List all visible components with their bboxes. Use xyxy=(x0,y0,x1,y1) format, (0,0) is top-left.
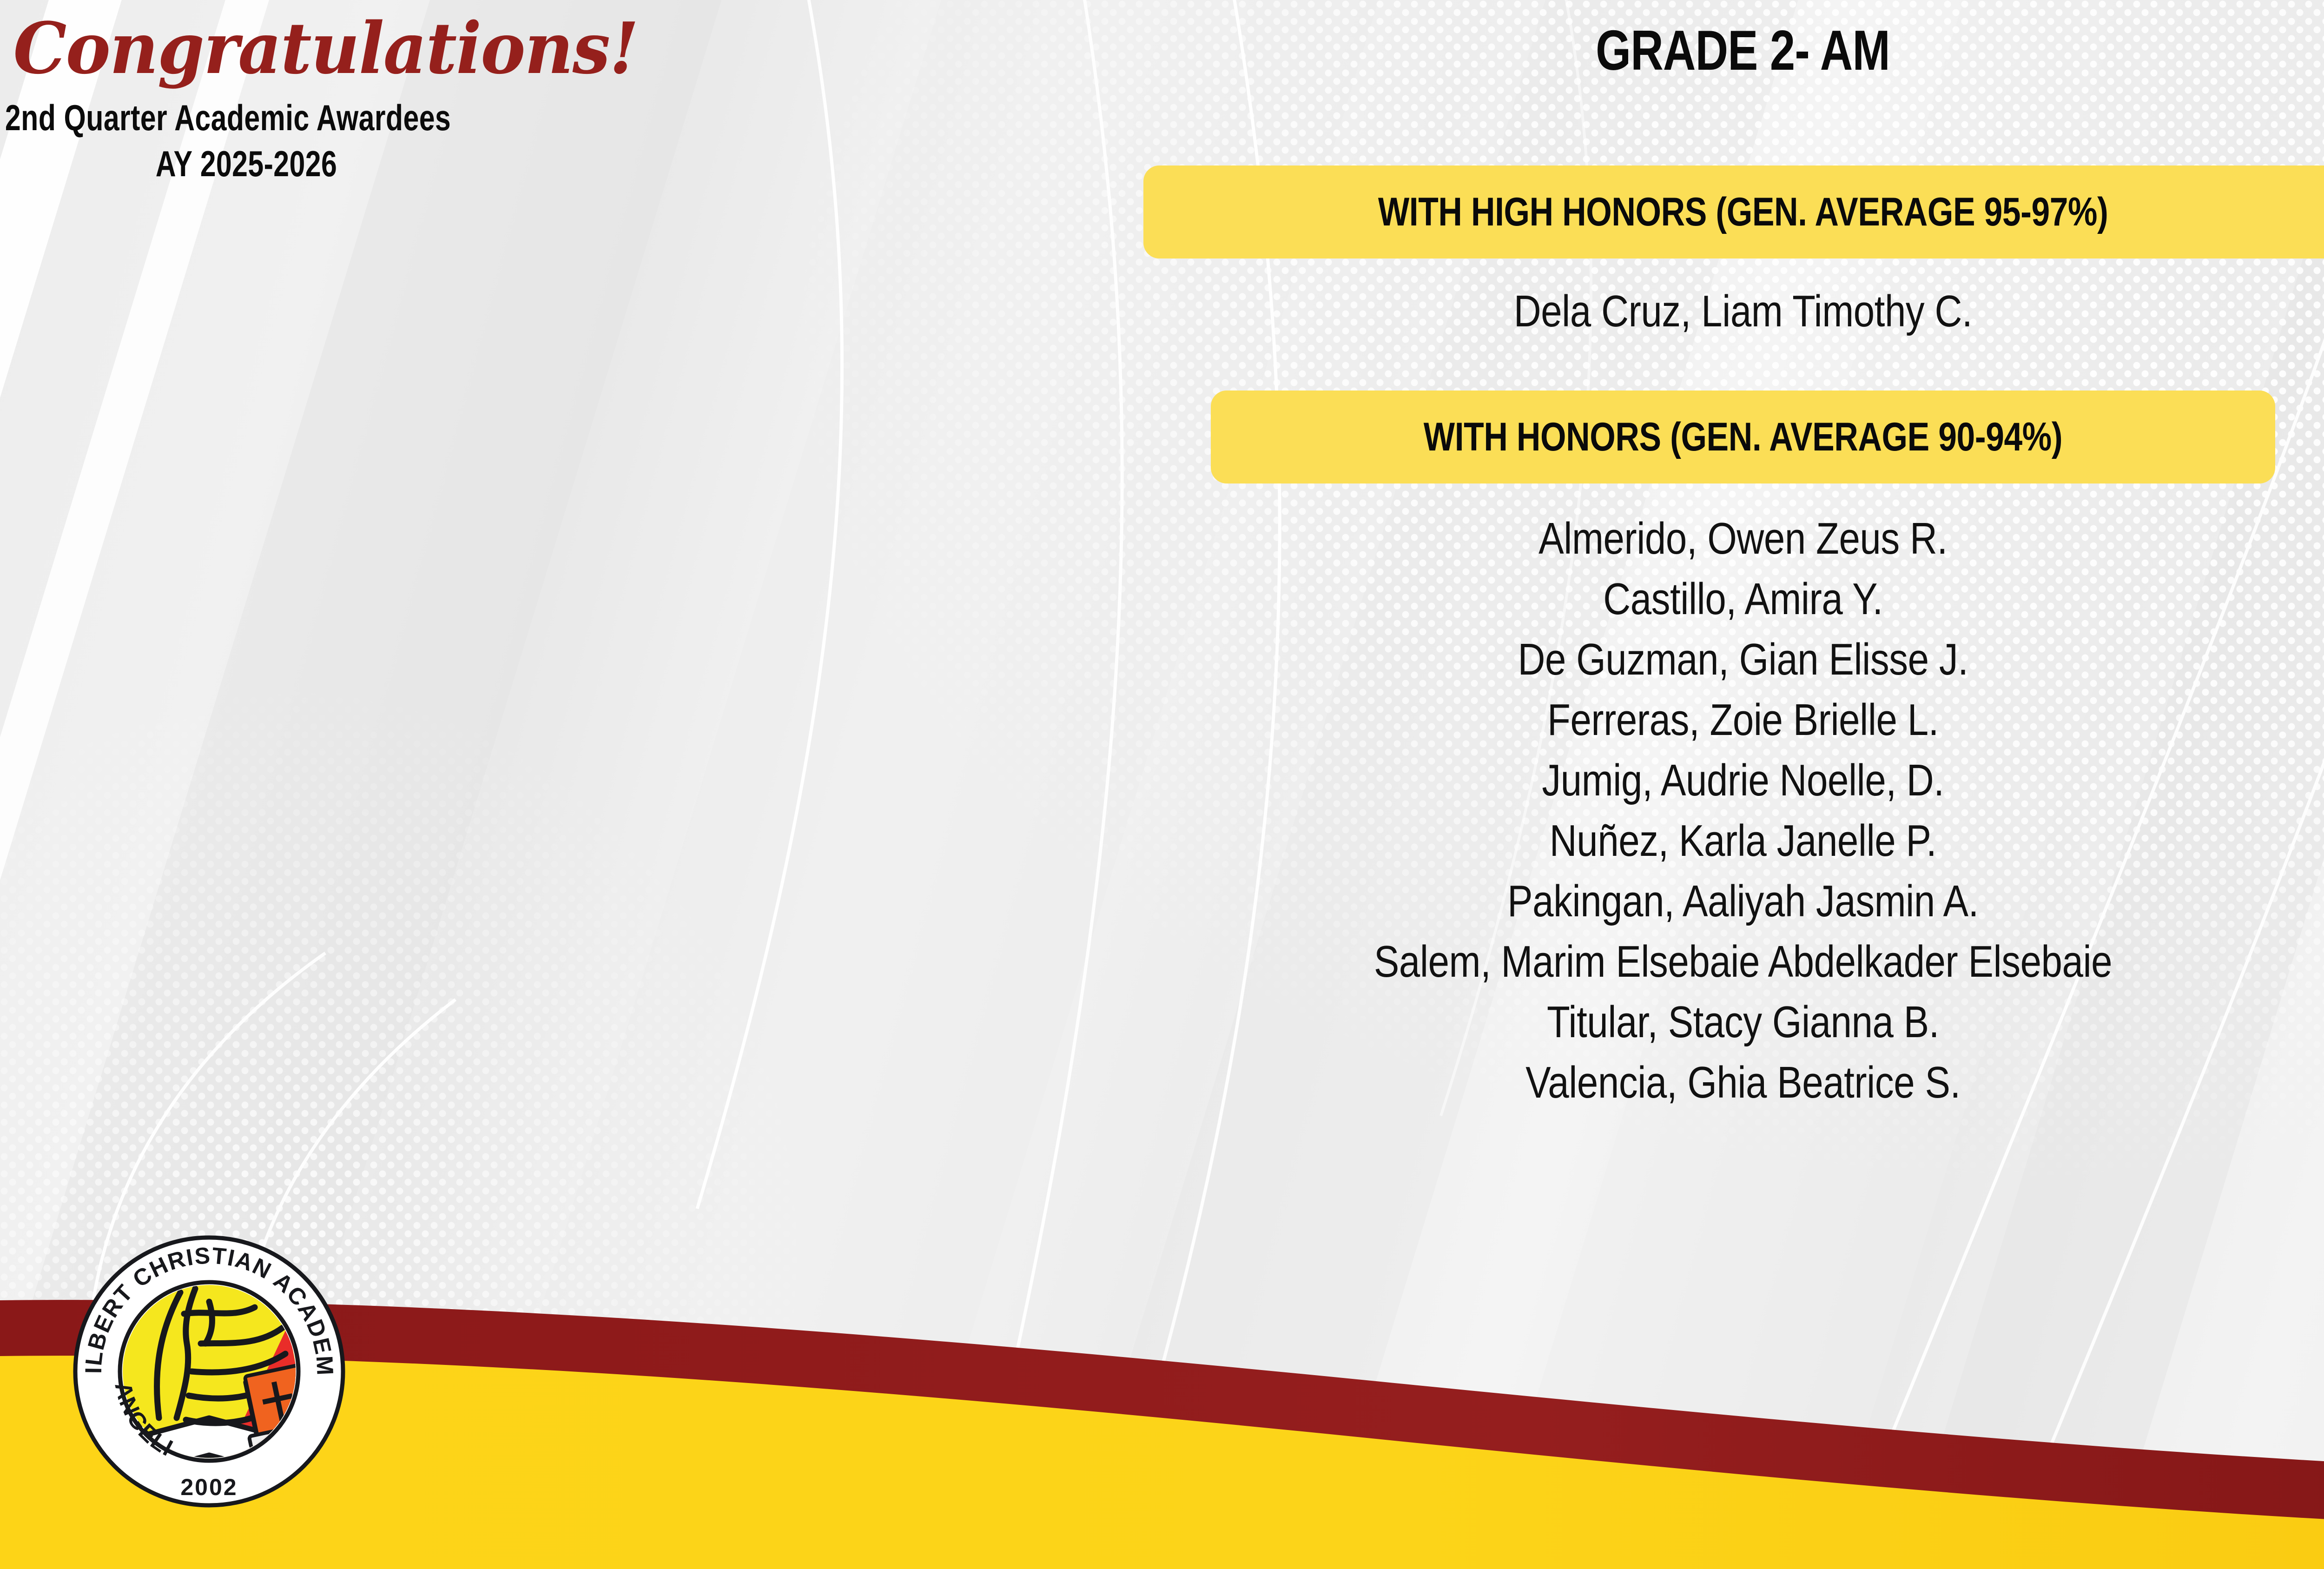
list-item: Ferreras, Zoie Brielle L. xyxy=(854,690,2324,750)
list-item: De Guzman, Gian Elisse J. xyxy=(854,629,2324,690)
list-item: Castillo, Amira Y. xyxy=(854,569,2324,629)
subtitle-academic-year: AY 2025-2026 xyxy=(54,138,439,184)
list-item: Valencia, Ghia Beatrice S. xyxy=(854,1053,2324,1113)
school-logo-svg: GILBERT CHRISTIAN ACADEMY ANGELI 2002 xyxy=(70,1232,349,1511)
badge-label: WITH HONORS (GEN. AVERAGE 90-94%) xyxy=(1424,414,2062,460)
list-item: Nuñez, Karla Janelle P. xyxy=(854,811,2324,871)
logo-year: 2002 xyxy=(180,1474,238,1500)
status-badge-with-honors: WITH HONORS (GEN. AVERAGE 90-94%) xyxy=(1211,391,2275,483)
status-badge-with-high-honors: WITH HIGH HONORS (GEN. AVERAGE 95-97%) xyxy=(1143,166,2324,258)
main-content: GRADE 2- AM WITH HIGH HONORS (GEN. AVERA… xyxy=(697,0,2324,1427)
subtitle-quarter: 2nd Quarter Academic Awardees xyxy=(0,86,562,138)
congratulations-heading: Congratulations! xyxy=(0,0,685,86)
list-item: Salem, Marim Elsebaie Abdelkader Elsebai… xyxy=(854,932,2324,992)
list-item: Almerido, Owen Zeus R. xyxy=(854,509,2324,569)
list-item: Dela Cruz, Liam Timothy C. xyxy=(854,285,2324,338)
list-item: Titular, Stacy Gianna B. xyxy=(854,992,2324,1053)
badge-label: WITH HIGH HONORS (GEN. AVERAGE 95-97%) xyxy=(1378,189,2108,235)
list-item: Pakingan, Aaliyah Jasmin A. xyxy=(854,871,2324,932)
awardee-list-honors: Almerido, Owen Zeus R. Castillo, Amira Y… xyxy=(697,509,2324,1113)
page-title: GRADE 2- AM xyxy=(1596,0,1890,83)
header-left-block: Congratulations! 2nd Quarter Academic Aw… xyxy=(0,0,720,184)
list-item: Jumig, Audrie Noelle, D. xyxy=(854,750,2324,811)
footer-wave-decoration xyxy=(0,1244,2324,1569)
awardee-list-high-honors: Dela Cruz, Liam Timothy C. xyxy=(697,285,2324,338)
school-logo: GILBERT CHRISTIAN ACADEMY ANGELI 2002 xyxy=(70,1232,349,1511)
awards-poster: Congratulations! 2nd Quarter Academic Aw… xyxy=(0,0,2324,1569)
